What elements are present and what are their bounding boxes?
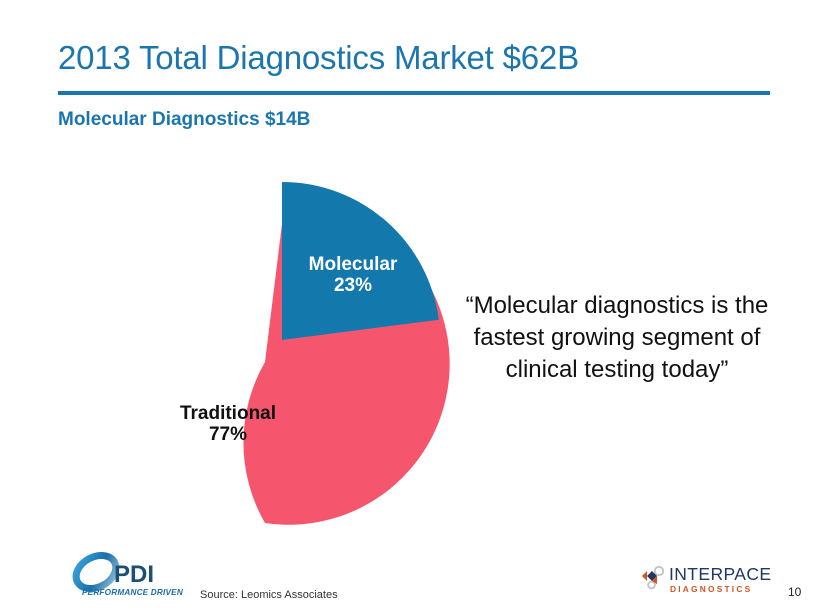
quote-text: “Molecular diagnostics is the fastest gr… <box>452 290 782 386</box>
pie-label-traditional-name: Traditional <box>180 403 276 424</box>
pdi-logo: PDI PERFORMANCE DRIVEN <box>72 552 187 600</box>
source-note: Source: Leomics Associates <box>200 589 338 601</box>
pie-label-molecular-value: 23% <box>283 275 423 296</box>
pie-chart-svg <box>88 175 468 535</box>
pie-label-molecular: Molecular 23% <box>283 254 423 297</box>
pie-label-traditional: Traditional 77% <box>148 403 308 446</box>
page-number: 10 <box>788 585 801 599</box>
pie-label-molecular-name: Molecular <box>309 254 398 275</box>
interpace-logo: INTERPACE DIAGNOSTICS <box>636 563 786 599</box>
page-title: 2013 Total Diagnostics Market $62B <box>58 38 788 78</box>
pdi-tagline: PERFORMANCE DRIVEN <box>82 588 184 597</box>
pdi-wordmark: PDI <box>114 561 154 588</box>
page-subtitle: Molecular Diagnostics $14B <box>58 108 310 132</box>
pdi-logo-svg: PDI PERFORMANCE DRIVEN <box>72 552 187 600</box>
interpace-logo-svg: INTERPACE DIAGNOSTICS <box>636 563 786 599</box>
interpace-wordmark: INTERPACE <box>669 564 771 584</box>
title-divider-rule <box>58 91 770 95</box>
interpace-subword: DIAGNOSTICS <box>670 584 752 594</box>
pie-chart: Molecular 23% Traditional 77% <box>88 175 468 535</box>
pie-label-traditional-value: 77% <box>148 424 308 445</box>
slide-canvas: 2013 Total Diagnostics Market $62B Molec… <box>0 0 822 616</box>
interpace-diamond-icon <box>642 567 663 589</box>
